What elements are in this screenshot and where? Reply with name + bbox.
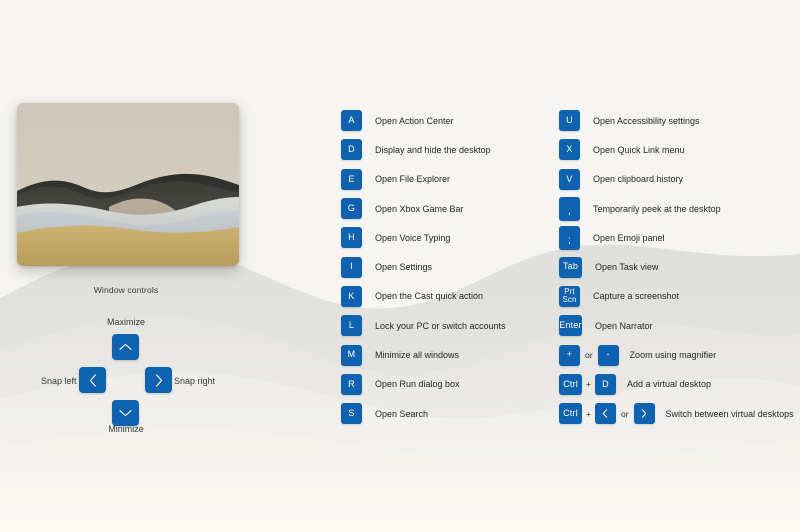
key-cap-h[interactable]: H	[341, 227, 362, 248]
key-combination: K	[341, 286, 362, 307]
shortcut-description: Open Narrator	[595, 321, 653, 331]
key-cap-r[interactable]: R	[341, 374, 362, 395]
key-combination: +or-	[559, 345, 619, 366]
shortcut-description: Open Search	[375, 409, 428, 419]
key-cap-v[interactable]: V	[559, 169, 580, 190]
minimize-button[interactable]	[112, 400, 139, 426]
key-separator-plus: +	[582, 379, 595, 389]
key-cap-ctrl[interactable]: Ctrl	[559, 374, 582, 395]
window-controls-caption: Window controls	[0, 285, 252, 295]
key-cap-prt-scn[interactable]: PrtScn	[559, 286, 580, 307]
shortcut-row: AOpen Action Center	[341, 106, 506, 135]
key-cap-i[interactable]: I	[341, 257, 362, 278]
key-combination: S	[341, 403, 362, 424]
key-cap-semicolon[interactable]: ;	[559, 226, 580, 250]
shortcut-description: Open File Explorer	[375, 174, 450, 184]
key-cap-s[interactable]: S	[341, 403, 362, 424]
key-cap-d[interactable]: D	[341, 139, 362, 160]
key-cap-l[interactable]: L	[341, 315, 362, 336]
key-cap-comma[interactable]: ,	[559, 197, 580, 221]
maximize-label: Maximize	[0, 317, 252, 327]
shortcut-row: IOpen Settings	[341, 252, 506, 281]
key-cap-right-arrow[interactable]	[634, 403, 655, 424]
shortcut-description: Capture a screenshot	[593, 291, 679, 301]
shortcut-description: Open Run dialog box	[375, 379, 460, 389]
key-combination: L	[341, 315, 362, 336]
shortcut-description: Display and hide the desktop	[375, 145, 491, 155]
key-combination: PrtScn	[559, 286, 580, 307]
key-combination: E	[341, 169, 362, 190]
key-cap-g[interactable]: G	[341, 198, 362, 219]
key-cap--[interactable]: +	[559, 345, 580, 366]
key-combination: X	[559, 139, 580, 160]
shortcut-description: Open Accessibility settings	[593, 116, 700, 126]
key-cap-e[interactable]: E	[341, 169, 362, 190]
shortcut-description: Open the Cast quick action	[375, 291, 483, 301]
shortcut-description: Open Settings	[375, 262, 432, 272]
shortcut-description: Open Emoji panel	[593, 233, 665, 243]
key-cap--[interactable]: -	[598, 345, 619, 366]
shortcut-description: Switch between virtual desktops	[666, 409, 794, 419]
chevron-up-icon	[119, 343, 132, 351]
shortcut-row: EOpen File Explorer	[341, 165, 506, 194]
shortcut-description: Open Voice Typing	[375, 233, 450, 243]
shortcut-row: PrtScnCapture a screenshot	[559, 282, 794, 311]
key-combination: Enter	[559, 315, 582, 336]
maximize-button[interactable]	[112, 334, 139, 360]
shortcut-row: GOpen Xbox Game Bar	[341, 194, 506, 223]
key-cap-tab[interactable]: Tab	[559, 257, 582, 278]
shortcut-row: MMinimize all windows	[341, 340, 506, 369]
shortcut-list-left: AOpen Action CenterDDisplay and hide the…	[341, 106, 506, 428]
key-combination: A	[341, 110, 362, 131]
shortcut-row: ROpen Run dialog box	[341, 370, 506, 399]
key-combination: U	[559, 110, 580, 131]
key-cap-x[interactable]: X	[559, 139, 580, 160]
shortcut-list-right: UOpen Accessibility settingsXOpen Quick …	[559, 106, 794, 428]
chevron-left-icon	[602, 409, 608, 418]
shortcut-description: Add a virtual desktop	[627, 379, 711, 389]
key-combination: H	[341, 227, 362, 248]
key-combination: Ctrl+D	[559, 374, 616, 395]
shortcut-row: SOpen Search	[341, 399, 506, 428]
key-cap-a[interactable]: A	[341, 110, 362, 131]
window-controls-diagram: Maximize Minimize Snap left Snap right	[0, 312, 252, 437]
shortcut-row: LLock your PC or switch accounts	[341, 311, 506, 340]
key-separator-or: or	[616, 409, 634, 419]
shortcut-row: Ctrl+DAdd a virtual desktop	[559, 370, 794, 399]
key-combination: ;	[559, 226, 580, 250]
shortcut-row: TabOpen Task view	[559, 252, 794, 281]
chevron-right-icon	[155, 374, 163, 387]
desktop-wallpaper-preview	[17, 103, 239, 266]
shortcut-row: HOpen Voice Typing	[341, 223, 506, 252]
shortcut-row: KOpen the Cast quick action	[341, 282, 506, 311]
snap-right-button[interactable]	[145, 367, 172, 393]
shortcut-description: Open Xbox Game Bar	[375, 204, 464, 214]
key-cap-ctrl[interactable]: Ctrl	[559, 403, 582, 424]
key-separator-plus: +	[582, 409, 595, 419]
shortcut-description: Minimize all windows	[375, 350, 459, 360]
shortcut-description: Open Action Center	[375, 116, 454, 126]
snap-left-button[interactable]	[79, 367, 106, 393]
snap-left-label: Snap left	[41, 376, 77, 386]
key-combination: Ctrl+or	[559, 403, 655, 424]
key-cap-enter[interactable]: Enter	[559, 315, 582, 336]
shortcut-description: Open Task view	[595, 262, 658, 272]
key-cap-left-arrow[interactable]	[595, 403, 616, 424]
shortcut-description: Zoom using magnifier	[630, 350, 717, 360]
snap-right-label: Snap right	[174, 376, 215, 386]
key-combination: D	[341, 139, 362, 160]
shortcut-row: XOpen Quick Link menu	[559, 135, 794, 164]
key-separator-or: or	[580, 350, 598, 360]
key-combination: ,	[559, 197, 580, 221]
key-combination: I	[341, 257, 362, 278]
key-cap-line-2: Scn	[562, 296, 576, 305]
shortcut-row: ,Temporarily peek at the desktop	[559, 194, 794, 223]
shortcut-row: ;Open Emoji panel	[559, 223, 794, 252]
shortcut-row: EnterOpen Narrator	[559, 311, 794, 340]
shortcut-description: Open Quick Link menu	[593, 145, 685, 155]
key-combination: V	[559, 169, 580, 190]
key-cap-m[interactable]: M	[341, 345, 362, 366]
chevron-down-icon	[119, 409, 132, 417]
key-cap-k[interactable]: K	[341, 286, 362, 307]
key-combination: M	[341, 345, 362, 366]
key-cap-u[interactable]: U	[559, 110, 580, 131]
shortcut-row: +or-Zoom using magnifier	[559, 340, 794, 369]
shortcut-description: Open clipboard history	[593, 174, 683, 184]
shortcut-row: Ctrl+orSwitch between virtual desktops	[559, 399, 794, 428]
shortcut-description: Temporarily peek at the desktop	[593, 204, 721, 214]
chevron-left-icon	[89, 374, 97, 387]
key-combination: G	[341, 198, 362, 219]
chevron-right-icon	[641, 409, 647, 418]
key-combination: Tab	[559, 257, 582, 278]
shortcut-row: DDisplay and hide the desktop	[341, 135, 506, 164]
shortcut-description: Lock your PC or switch accounts	[375, 321, 506, 331]
shortcut-row: UOpen Accessibility settings	[559, 106, 794, 135]
key-cap-d[interactable]: D	[595, 374, 616, 395]
shortcut-row: VOpen clipboard history	[559, 165, 794, 194]
key-combination: R	[341, 374, 362, 395]
